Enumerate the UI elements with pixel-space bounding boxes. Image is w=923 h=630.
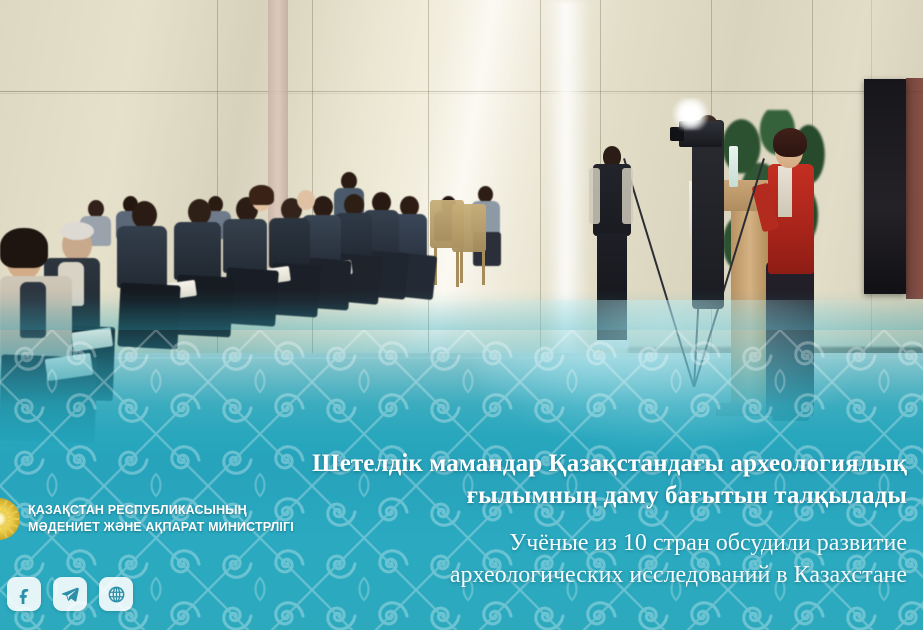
- telegram-icon[interactable]: [53, 577, 87, 611]
- chair-leg: [456, 251, 459, 287]
- ministry-line2: МӘДЕНИЕТ ЖӘНЕ АҚПАРАТ МИНИСТРЛІГІ: [28, 519, 294, 536]
- ministry-lockup: ҚАЗАҚСТАН РЕСПУБЛИКАСЫНЫҢ МӘДЕНИЕТ ЖӘНЕ …: [0, 498, 294, 540]
- kazakhstan-sun-emblem-icon: [0, 498, 20, 540]
- headline-kazakh-line1: Шетелдік мамандар Қазақстандағы археолог…: [247, 448, 907, 480]
- ministry-name: ҚАЗАҚСТАН РЕСПУБЛИКАСЫНЫҢ МӘДЕНИЕТ ЖӘНЕ …: [28, 502, 294, 537]
- headline-kazakh-line2: ғылымның даму бағытын талқылады: [247, 480, 907, 512]
- headline-russian-line2: археологических исследований в Казахстан…: [227, 560, 907, 592]
- social-links: [7, 577, 133, 611]
- chair-leg: [482, 251, 485, 285]
- headline-kazakh: Шетелдік мамандар Қазақстандағы археолог…: [247, 448, 907, 512]
- news-media-card: Шетелдік мамандар Қазақстандағы археолог…: [0, 0, 923, 630]
- chair: [452, 204, 486, 252]
- ministry-line1: ҚАЗАҚСТАН РЕСПУБЛИКАСЫНЫҢ: [28, 502, 294, 519]
- website-globe-icon[interactable]: [99, 577, 133, 611]
- facebook-icon[interactable]: [7, 577, 41, 611]
- headline-russian: Учёные из 10 стран обсудили развитие арх…: [227, 528, 907, 591]
- headline-russian-line1: Учёные из 10 стран обсудили развитие: [227, 528, 907, 560]
- chair-leg: [460, 247, 463, 283]
